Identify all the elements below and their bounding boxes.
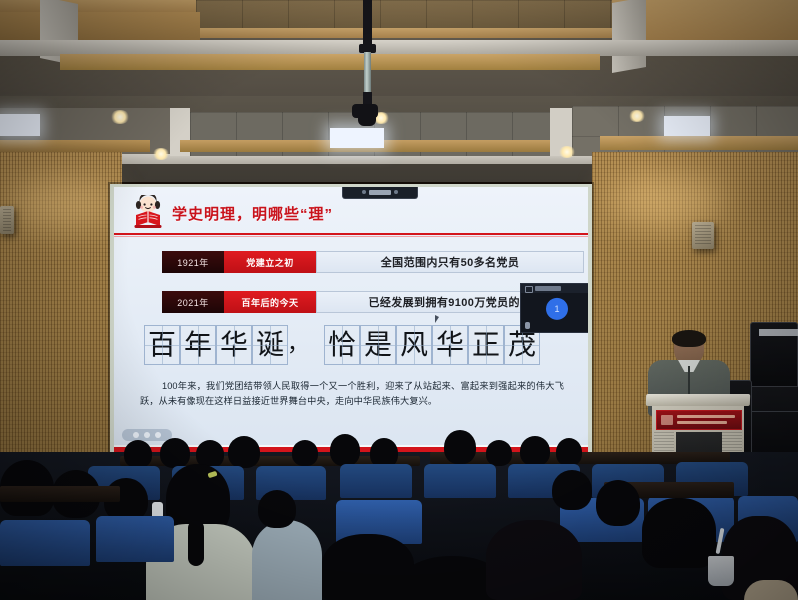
speaker-grill [695,225,711,246]
auditorium-seat [424,464,496,498]
slide-headline: 百 年 华 诞 ， 恰 是 风 华 正 茂 [144,323,560,367]
audience-head [124,440,152,468]
headline-char: 百 [144,325,180,365]
equipment-rack-bottom [748,386,798,462]
ceiling-wood-trim [196,28,616,38]
previous-icon[interactable] [133,432,139,438]
audience-head [552,470,592,510]
row-tag: 百年后的今天 [224,291,316,313]
headline-char: ， [288,325,308,365]
slide-title: 学史明理，明哪些“理” [172,203,333,224]
audience-head [258,490,296,528]
audience-head [330,434,360,466]
headline-char: 是 [360,325,396,365]
audience-head [486,440,512,466]
headline-char: 正 [468,325,504,365]
auditorium-seat [340,464,412,498]
mouse-cursor [435,315,439,323]
auditorium-seat [0,520,90,566]
audience-head [228,436,260,468]
table-row: 1921年 党建立之初 全国范围内只有50多名党员 [162,251,530,273]
participant-avatar: 1 [546,298,568,320]
next-icon[interactable] [155,432,161,438]
video-conference-participant-tile[interactable]: 1 [520,283,588,333]
ceiling-downlight [152,148,170,160]
audience-ponytail [188,520,204,566]
headline-char: 年 [180,325,216,365]
banner-text-line [677,421,727,424]
ceiling-panel-light [330,128,384,148]
banner-text-line [677,415,735,418]
audience-head [642,498,716,568]
institution-emblem-icon [661,415,673,425]
row-year: 1921年 [162,251,224,273]
play-icon[interactable] [144,432,150,438]
ceiling-downlight [558,146,576,158]
ceiling-panel-light [0,114,40,136]
rack-label [759,329,798,336]
toolbar-label [369,190,391,195]
audience-head [520,436,550,466]
podium-banner [656,410,742,430]
ceiling-panel-light [664,116,710,136]
wall-speaker-left [0,206,14,234]
microphone-icon [525,322,530,329]
row-desk [0,486,120,502]
rack-seam [749,411,798,412]
headline-spacer [308,325,324,365]
presenter-hair [672,330,706,347]
title-divider-secondary [114,236,588,237]
ceiling-wood-trim [600,136,798,150]
audience-head [292,440,318,466]
ceiling-wood-trim [60,54,600,70]
headline-char: 恰 [324,325,360,365]
headline-char: 华 [216,325,252,365]
wall-light-glow [6,176,116,230]
table-row: 2021年 百年后的今天 已经发展到拥有9100万党员的百年大党 [162,291,564,313]
audience-shoulders [744,580,798,600]
podium-top [646,394,750,406]
audience-head [444,430,476,464]
projector-mount-extension [364,52,371,96]
participant-name-label [535,286,561,291]
title-divider [114,233,588,235]
toolbar-dot-icon [394,190,398,194]
headline-char: 华 [432,325,468,365]
row-year: 2021年 [162,291,224,313]
toolbar-dot-icon [362,190,366,194]
row-content: 全国范围内只有50多名党员 [316,251,584,273]
wall-light-glow [606,172,726,228]
row-tag: 党建立之初 [224,251,316,273]
auditorium-seat [96,516,174,562]
projector-mount-pole [363,0,372,48]
headline-char: 风 [396,325,432,365]
projected-slide: 学史明理，明哪些“理” 1921年 党建立之初 全国范围内只有50多名党员 20… [114,187,588,459]
audience-head [596,480,640,526]
audience-head [556,438,582,466]
slide-paragraph: 100年来，我们党团结带领人民取得一个又一个胜利，迎来了从站起来、富起来到强起来… [140,379,564,409]
wall-speaker-right [692,222,714,249]
ceiling-beam [612,0,646,73]
ceiling-wood-trim [0,140,150,152]
projector-lens-housing [358,114,376,126]
ceiling-downlight [110,110,130,124]
audience-head [322,534,414,600]
camera-icon [525,286,533,293]
slide-playback-controls[interactable] [122,429,172,441]
girl-reading-book-icon [128,195,168,231]
ceiling-downlight [628,110,646,122]
lecture-hall-photo: 学史明理，明哪些“理” 1921年 党建立之初 全国范围内只有50多名党员 20… [0,0,798,600]
equipment-rack-top [750,322,798,390]
drink-cup [708,556,734,586]
audience-shoulders [252,520,322,600]
meeting-toolbar[interactable] [342,187,418,199]
headline-char: 诞 [252,325,288,365]
speaker-grill [3,209,11,231]
audience-head [486,520,582,600]
audience-head [160,438,190,468]
ceiling-tile-grid [196,0,616,30]
